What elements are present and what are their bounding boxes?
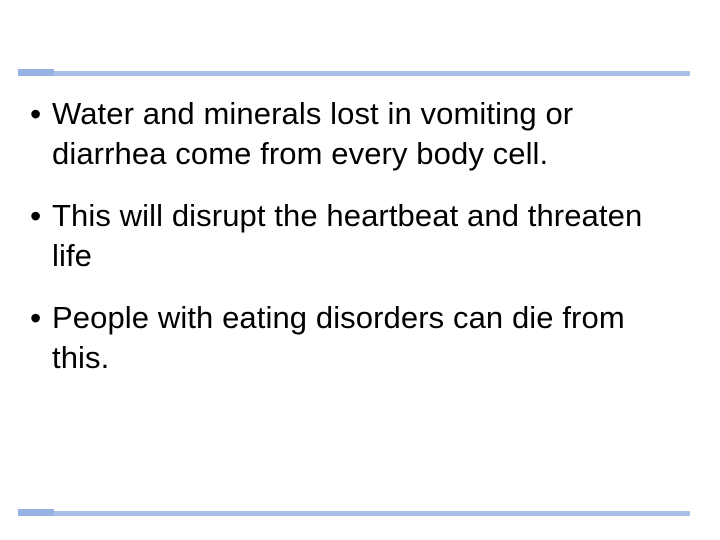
top-divider bbox=[18, 71, 690, 76]
bottom-divider-accent-cap bbox=[18, 509, 54, 516]
list-item: • People with eating disorders can die f… bbox=[26, 298, 694, 378]
slide: • Water and minerals lost in vomiting or… bbox=[0, 0, 720, 540]
top-divider-accent-cap bbox=[18, 69, 54, 76]
bullet-marker-icon: • bbox=[26, 196, 52, 236]
bullet-list: • Water and minerals lost in vomiting or… bbox=[26, 94, 694, 378]
list-item-text: People with eating disorders can die fro… bbox=[52, 298, 694, 378]
list-item-text: Water and minerals lost in vomiting or d… bbox=[52, 94, 694, 174]
list-item: • Water and minerals lost in vomiting or… bbox=[26, 94, 694, 174]
list-item: • This will disrupt the heartbeat and th… bbox=[26, 196, 694, 276]
bullet-marker-icon: • bbox=[26, 298, 52, 338]
bullet-marker-icon: • bbox=[26, 94, 52, 134]
list-item-text: This will disrupt the heartbeat and thre… bbox=[52, 196, 694, 276]
bottom-divider bbox=[18, 511, 690, 516]
